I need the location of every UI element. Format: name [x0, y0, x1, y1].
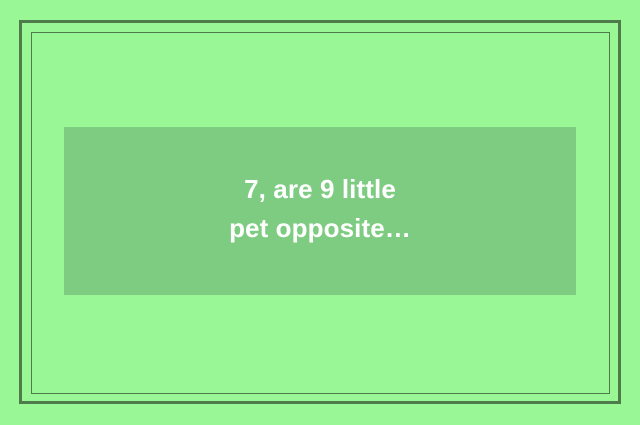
panel-text-line-2: pet opposite… — [64, 209, 576, 248]
canvas-root: 7, are 9 little pet opposite… — [0, 0, 640, 425]
panel-text-line-1: 7, are 9 little — [64, 170, 576, 209]
content-panel: 7, are 9 little pet opposite… — [64, 127, 576, 295]
